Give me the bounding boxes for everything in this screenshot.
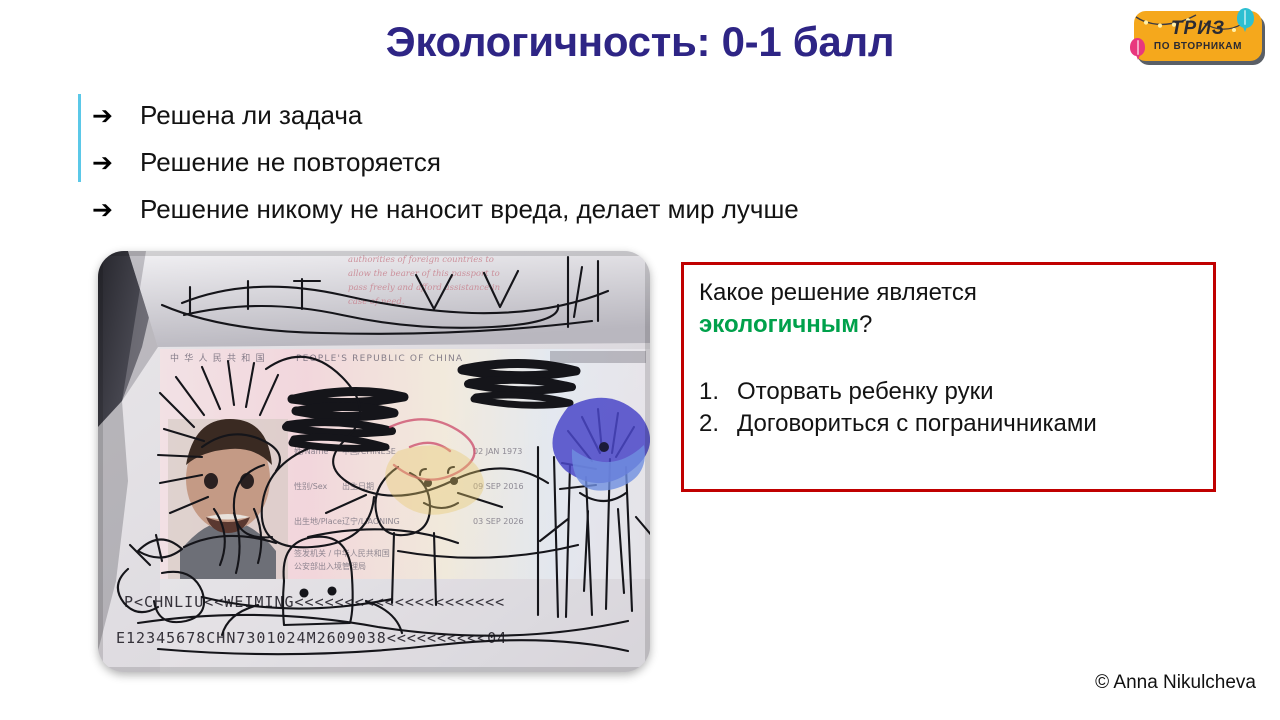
svg-text:签发机关 / 中华人民共和国: 签发机关 / 中华人民共和国	[294, 548, 390, 558]
svg-text:authorities of foreign countri: authorities of foreign countries to	[348, 255, 494, 265]
answer-options-list: 1. Оторвать ребенку руки 2. Договориться…	[699, 378, 1204, 442]
answer-option-1[interactable]: 1. Оторвать ребенку руки	[699, 378, 1204, 406]
logo-word-po-vtornikam: ПО ВТОРНИКАМ	[1134, 41, 1262, 52]
question-callout-box: Какое решение является экологичным? 1. О…	[681, 262, 1216, 492]
copyright-notice: © Anna Nikulcheva	[1095, 672, 1256, 694]
slide-canvas: Экологичность: 0-1 балл ТРИЗ ПО ВТОРНИКА…	[0, 0, 1280, 720]
triz-po-vtornikam-logo[interactable]: ТРИЗ ПО ВТОРНИКАМ	[1129, 6, 1275, 70]
balloon-pink-icon	[1130, 38, 1145, 56]
svg-text:02 JAN 1973: 02 JAN 1973	[473, 447, 522, 456]
answer-label: Оторвать ребенку руки	[737, 378, 993, 406]
answer-number: 2.	[699, 410, 737, 438]
answer-option-2[interactable]: 2. Договориться с пограничниками	[699, 410, 1204, 438]
list-item-label: Решена ли задача	[140, 101, 362, 131]
highlight-word-eco: экологичным	[699, 311, 859, 338]
passport-photo-illustration: authorities of foreign countries to allo…	[98, 251, 650, 672]
question-line-2: экологичным?	[699, 311, 872, 339]
list-item: ➔ Решение не повторяется	[92, 148, 1072, 178]
list-item: ➔ Решение никому не наносит вреда, делае…	[92, 195, 1072, 225]
svg-text:中 华 人 民 共 和 国: 中 华 人 民 共 和 国	[170, 352, 266, 364]
arrow-right-icon: ➔	[92, 151, 140, 176]
svg-text:公安部出入境管理局: 公安部出入境管理局	[294, 561, 366, 571]
svg-text:性别/Sex: 性别/Sex	[294, 481, 328, 491]
list-item-label: Решение не повторяется	[140, 148, 441, 178]
left-accent-bar	[78, 94, 81, 182]
balloon-teal-icon	[1237, 8, 1254, 28]
criteria-list: ➔ Решена ли задача ➔ Решение не повторяе…	[92, 101, 1072, 242]
question-line-1: Какое решение является	[699, 279, 977, 307]
arrow-right-icon: ➔	[92, 104, 140, 129]
list-item: ➔ Решена ли задача	[92, 101, 1072, 131]
question-suffix: ?	[859, 311, 872, 338]
balloon-highlight	[1137, 40, 1139, 55]
page-title: Экологичность: 0-1 балл	[0, 18, 1280, 66]
svg-text:出生地/Place: 出生地/Place	[294, 516, 342, 526]
answer-number: 1.	[699, 378, 737, 406]
svg-text:辽宁/LIAONING: 辽宁/LIAONING	[342, 516, 400, 526]
svg-text:03 SEP 2026: 03 SEP 2026	[473, 517, 524, 526]
balloon-highlight	[1244, 10, 1246, 25]
arrow-right-icon: ➔	[92, 198, 140, 223]
answer-label: Договориться с пограничниками	[737, 410, 1097, 438]
list-item-label: Решение никому не наносит вреда, делает …	[140, 195, 799, 225]
svg-text:allow the bearer of this passp: allow the bearer of this passport to	[348, 269, 500, 279]
passport-scribble-photo: authorities of foreign countries to allo…	[98, 251, 650, 672]
